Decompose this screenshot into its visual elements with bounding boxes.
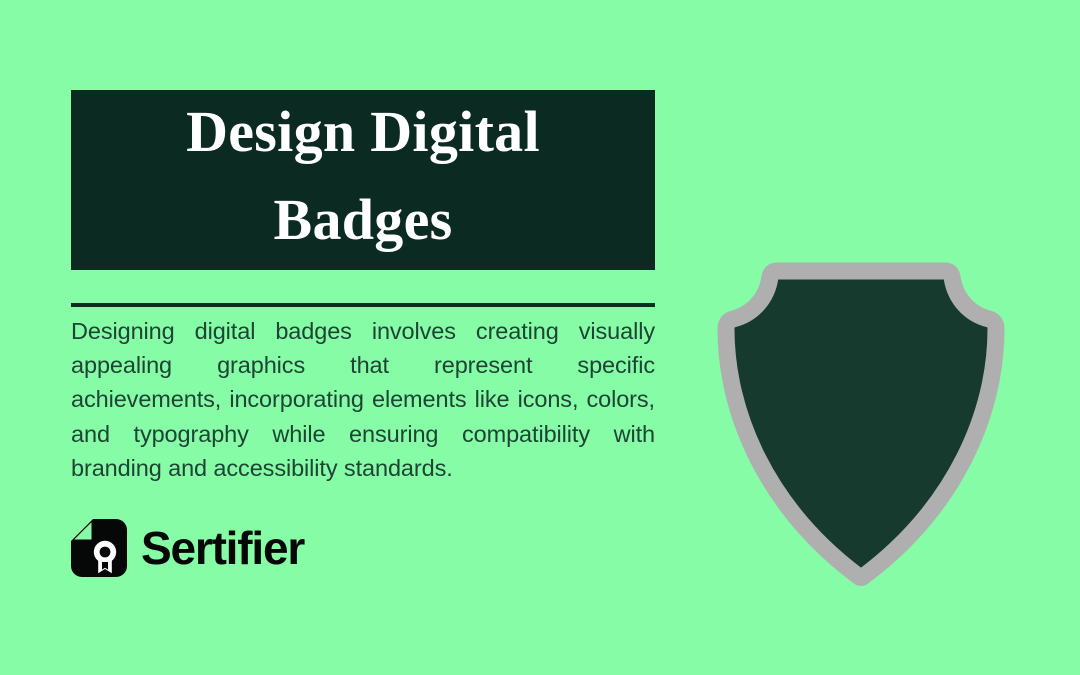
horizontal-rule-divider: [71, 303, 655, 307]
sertifier-logo: Sertifier: [71, 519, 304, 577]
certificate-document-rosette-icon: [71, 519, 127, 577]
body-paragraph: Designing digital badges involves creati…: [71, 314, 655, 485]
title-banner: Design Digital Badges: [71, 90, 655, 270]
slide-canvas: Design Digital Badges Designing digital …: [0, 0, 1080, 675]
logo-wordmark: Sertifier: [141, 525, 304, 571]
shield-illustration: [706, 252, 1016, 597]
shield-icon: [706, 252, 1016, 597]
page-title: Design Digital Badges: [186, 88, 540, 264]
